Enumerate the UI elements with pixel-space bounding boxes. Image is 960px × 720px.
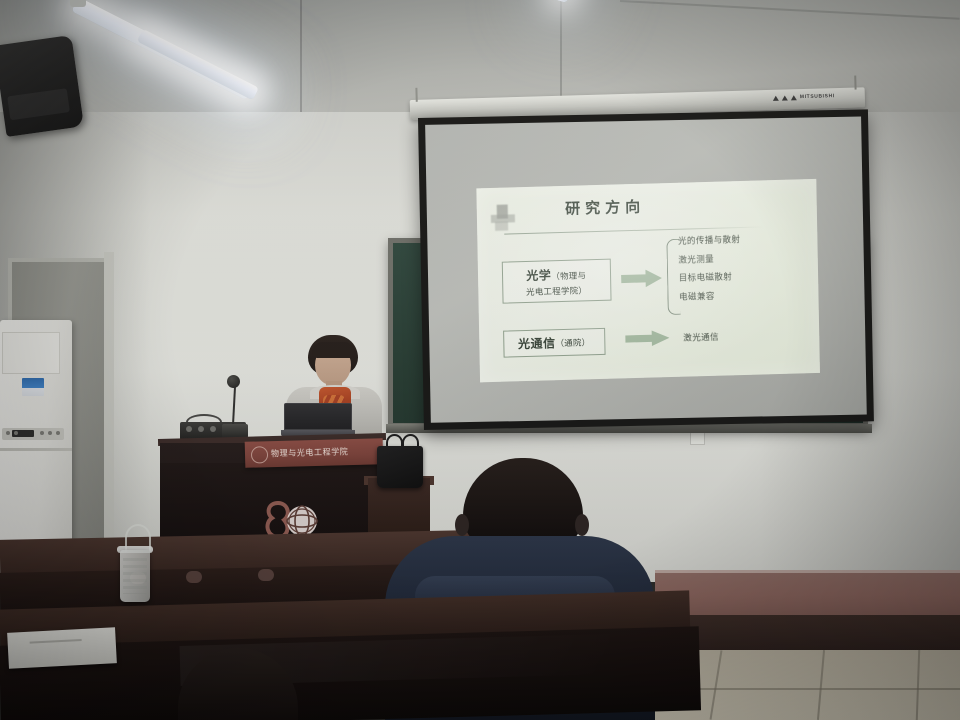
paper-sheet	[7, 627, 117, 669]
list-item: 光的传播与散射	[678, 231, 814, 247]
list-item: 目标电磁散射	[679, 268, 815, 284]
cup-texture	[123, 558, 147, 594]
lecture-hall-photo: MITSUBISHI 研究方向 光学（物理与 光电工程学院）	[0, 0, 960, 720]
wall-outlet-icon	[690, 432, 705, 445]
presentation-slide: 研究方向 光学（物理与 光电工程学院） 光的传播与散射 激光测量 目标电磁散射	[476, 178, 820, 381]
right-arrow-icon	[625, 330, 669, 347]
university-seal-icon	[251, 446, 268, 463]
box-optics-main: 光学	[526, 268, 551, 283]
desk-knob	[186, 571, 202, 583]
slide-box-optics: 光学（物理与 光电工程学院）	[502, 258, 612, 304]
energy-label-icon	[22, 378, 44, 396]
light-bracket	[70, 0, 86, 7]
desk-knob	[258, 569, 274, 581]
paper-text-line	[30, 639, 82, 643]
slide-box-optical-communication: 光通信（通院）	[503, 328, 606, 358]
right-arrow-icon	[621, 269, 662, 288]
mitsubishi-diamond-icon: MITSUBISHI	[773, 93, 835, 101]
slide-bullet-list: 光的传播与散射 激光测量 目标电磁散射 电磁兼容	[678, 231, 815, 303]
list-item: 激光测量	[678, 249, 814, 265]
list-item: 电磁兼容	[679, 287, 815, 303]
box-optics-sub2: 光电工程学院）	[526, 285, 587, 298]
wall-speaker	[0, 35, 84, 137]
laptop[interactable]	[281, 403, 355, 437]
podium-banner-text: 物理与光电工程学院	[271, 446, 349, 459]
box-comm-main: 光通信	[518, 334, 556, 352]
slide-decoration-icon	[490, 204, 516, 231]
ac-seam	[0, 448, 72, 451]
projection-screen[interactable]: 研究方向 光学（物理与 光电工程学院） 光的传播与散射 激光测量 目标电磁散射	[418, 109, 874, 430]
microphone-icon	[227, 375, 240, 388]
podium-banner: 物理与光电工程学院	[245, 438, 384, 468]
screen-surface: 研究方向 光学（物理与 光电工程学院） 光的传播与散射 激光测量 目标电磁散射	[425, 116, 867, 422]
slide-output-label: 激光通信	[683, 330, 719, 343]
ac-front-panel	[2, 332, 60, 374]
box-optics-sub: （物理与	[551, 270, 586, 281]
box-comm-sub: （通院）	[556, 336, 591, 349]
slide-title: 研究方向	[565, 195, 645, 218]
stage-skirt	[655, 615, 960, 653]
laptop-screen	[284, 403, 352, 430]
slide-title-rule	[505, 225, 763, 233]
speaker-grille	[7, 88, 70, 120]
stage-granite-band	[655, 573, 960, 617]
door-jamb	[104, 252, 114, 547]
screen-brand-label: MITSUBISHI	[800, 93, 835, 100]
